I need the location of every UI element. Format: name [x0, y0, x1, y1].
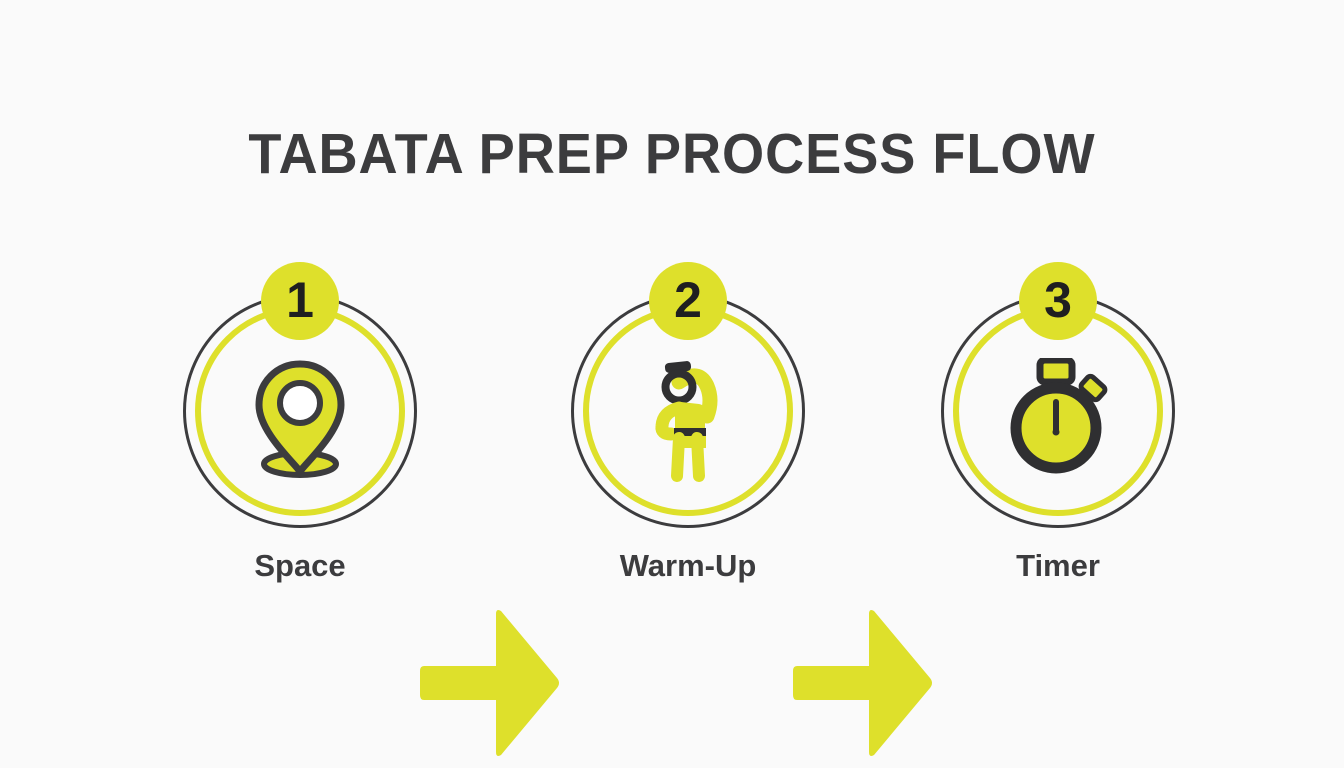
step-1-label: Space: [175, 550, 425, 581]
page-title: TABATA PREP PROCESS FLOW: [34, 126, 1311, 183]
step-2-number: 2: [674, 275, 702, 325]
process-flow: 1 Space 2: [0, 262, 1344, 622]
step-3-label: Timer: [933, 550, 1183, 581]
step-3-number: 3: [1044, 275, 1072, 325]
step-1-number-badge: 1: [261, 262, 339, 340]
process-step-2[interactable]: 2: [563, 262, 813, 622]
process-step-1[interactable]: 1 Space: [175, 262, 425, 622]
stretching-person-icon: [563, 358, 813, 478]
process-step-3[interactable]: 3 Timer: [933, 262, 1183, 622]
stopwatch-icon: [933, 358, 1183, 478]
step-3-number-badge: 3: [1019, 262, 1097, 340]
step-1-number: 1: [286, 275, 314, 325]
arrow-right-icon-2: [793, 604, 935, 762]
step-2-label: Warm-Up: [563, 550, 813, 581]
step-2-number-badge: 2: [649, 262, 727, 340]
infographic-canvas: TABATA PREP PROCESS FLOW 1 Space: [0, 0, 1344, 768]
arrow-right-icon-1: [420, 604, 562, 762]
location-pin-icon: [175, 358, 425, 478]
